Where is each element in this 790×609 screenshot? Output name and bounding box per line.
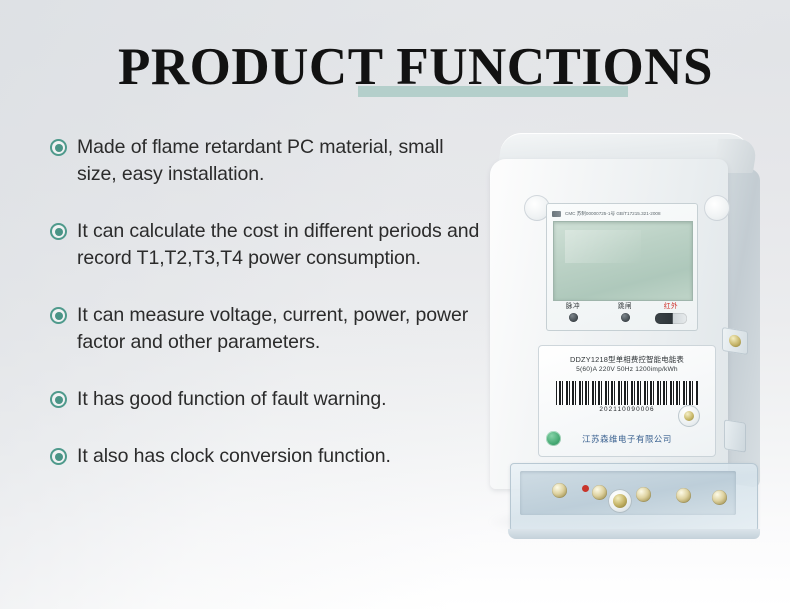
- certification-text: CMC 苏制00000725-1号 GB/T17215.321-2008: [552, 209, 693, 218]
- bullet-radio-icon: [50, 139, 67, 156]
- list-item: It also has clock conversion function.: [50, 443, 480, 470]
- nameplate-model: DDZY1218型单相费控智能电能表: [538, 354, 716, 365]
- nameplate-spec: 5(60)A 220V 50Hz 1200imp/kWh: [538, 366, 716, 373]
- terminal-screw-icon: [676, 488, 691, 503]
- indicator-label: 脉冲: [558, 303, 588, 311]
- meter-front-housing: CMC 苏制00000725-1号 GB/T17215.321-2008 脉冲 …: [490, 159, 728, 489]
- terminal-screw-icon: [552, 483, 567, 498]
- indicator-row: 脉冲 跳闸 红外: [554, 303, 692, 329]
- list-item: It has good function of fault warning.: [50, 386, 480, 413]
- indicator-label: 红外: [653, 303, 689, 311]
- certification-label: CMC 苏制00000725-1号 GB/T17215.321-2008: [565, 211, 661, 217]
- nameplate-manufacturer: 江苏森维电子有限公司: [538, 433, 716, 445]
- polarity-marker-icon: [582, 485, 589, 492]
- meter-display-panel: CMC 苏制00000725-1号 GB/T17215.321-2008 脉冲 …: [546, 203, 698, 331]
- seal-screw-icon: [678, 405, 700, 427]
- feature-list: Made of flame retardant PC material, sma…: [50, 134, 480, 494]
- list-item: Made of flame retardant PC material, sma…: [50, 134, 480, 188]
- feature-text: Made of flame retardant PC material, sma…: [77, 134, 480, 188]
- side-latch-clip: [724, 419, 746, 452]
- feature-text: It also has clock conversion function.: [77, 443, 391, 470]
- page-title: PRODUCT FUNCTIONS: [118, 36, 658, 98]
- bullet-radio-icon: [50, 223, 67, 240]
- infrared-window-icon: [655, 313, 687, 324]
- terminal-cover-lip: [508, 529, 760, 539]
- terminal-screw-large-icon: [608, 489, 632, 513]
- indicator-infrared: 红外: [653, 303, 689, 324]
- product-image-energy-meter: CMC 苏制00000725-1号 GB/T17215.321-2008 脉冲 …: [466, 133, 772, 553]
- feature-text: It can calculate the cost in different p…: [77, 218, 480, 272]
- list-item: It can measure voltage, current, power, …: [50, 302, 480, 356]
- terminal-screw-icon: [592, 485, 607, 500]
- bullet-radio-icon: [50, 391, 67, 408]
- side-mounting-tab: [722, 327, 748, 355]
- list-item: It can calculate the cost in different p…: [50, 218, 480, 272]
- page-title-block: PRODUCT FUNCTIONS: [118, 36, 658, 106]
- bullet-radio-icon: [50, 448, 67, 465]
- terminal-screw-icon: [712, 490, 727, 505]
- indicator-pulse: 脉冲: [558, 303, 588, 322]
- feature-text: It has good function of fault warning.: [77, 386, 387, 413]
- led-icon: [621, 313, 630, 322]
- cmc-mark-icon: [552, 211, 561, 217]
- terminal-block: [520, 471, 736, 515]
- terminal-block-cover: [510, 463, 758, 535]
- feature-text: It can measure voltage, current, power, …: [77, 302, 480, 356]
- product-functions-banner: PRODUCT FUNCTIONS Made of flame retardan…: [0, 0, 790, 609]
- lcd-screen: [553, 221, 693, 301]
- screw-boss-icon: [704, 195, 730, 221]
- indicator-trip: 跳闸: [610, 303, 640, 322]
- led-icon: [569, 313, 578, 322]
- bullet-radio-icon: [50, 307, 67, 324]
- meter-nameplate: DDZY1218型单相费控智能电能表 5(60)A 220V 50Hz 1200…: [538, 345, 716, 457]
- barcode-icon: [556, 381, 698, 405]
- terminal-screw-icon: [636, 487, 651, 502]
- indicator-label: 跳闸: [610, 303, 640, 311]
